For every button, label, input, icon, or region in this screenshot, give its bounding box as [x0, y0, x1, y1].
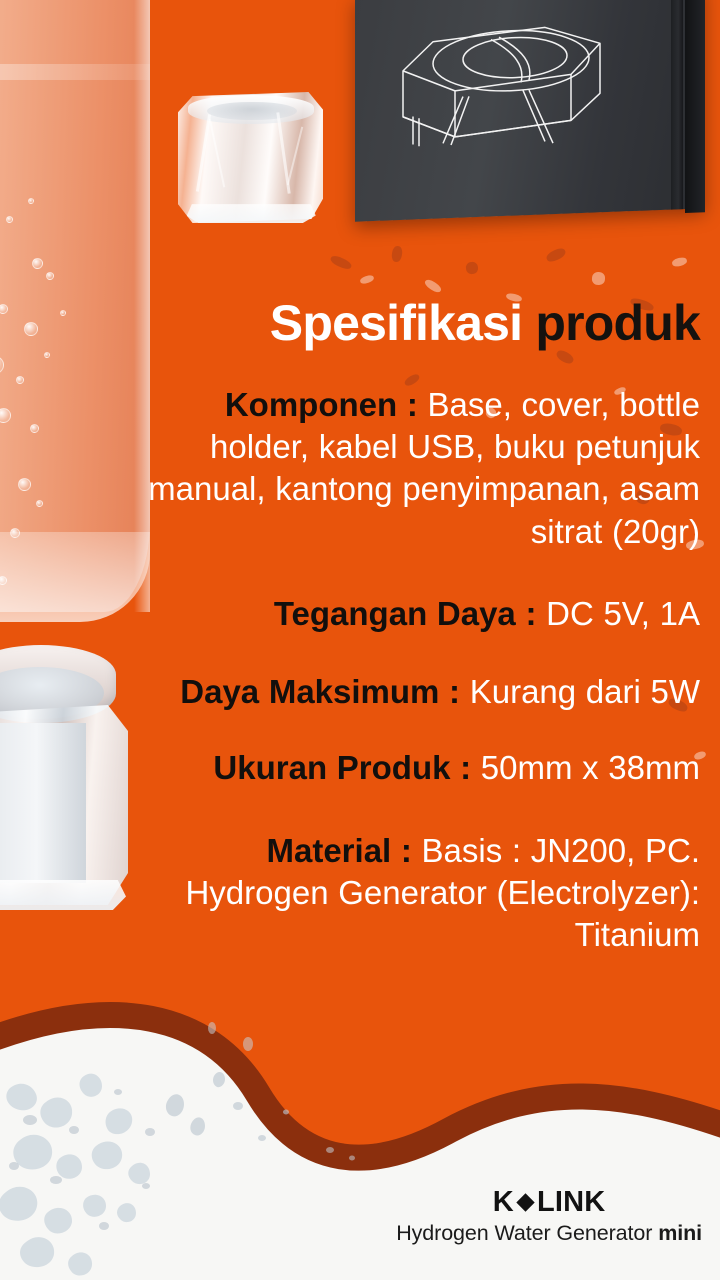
spec-value: Kurang dari 5W [470, 673, 700, 710]
diamond-icon [516, 1193, 534, 1211]
bubble [46, 272, 54, 280]
box-spine-outer [685, 0, 705, 213]
acrylic-bottle-holder-image [178, 88, 323, 223]
cup-body [178, 88, 323, 223]
poster-canvas: Spesifikasi produk Komponen : Base, cove… [0, 0, 720, 1280]
spec-value: Basis : JN200, PC. Hydrogen Generator (E… [185, 832, 700, 953]
cup-glint-2 [209, 119, 226, 188]
cup-foot [187, 204, 316, 223]
spec-separator: : [391, 832, 421, 869]
splash-speck [545, 246, 567, 264]
page-title-white-word: Spesifikasi [270, 295, 522, 351]
brand-word-link: LINK [537, 1188, 605, 1217]
cup-inner-well [207, 102, 297, 121]
spec-separator: : [439, 673, 469, 710]
cup-glint-3 [276, 112, 290, 194]
spec-row-tegangan-daya: Tegangan Daya : DC 5V, 1A [120, 593, 706, 635]
tagline-bold: mini [658, 1221, 702, 1245]
cup-glint-1 [196, 114, 211, 192]
spec-row-ukuran-produk: Ukuran Produk : 50mm x 38mm [120, 747, 706, 789]
tagline-regular: Hydrogen Water Generator [396, 1221, 658, 1245]
box-spine [671, 0, 683, 210]
footer-brand-lockup: K LINK Hydrogen Water Generator mini [396, 1188, 702, 1246]
spec-value: DC 5V, 1A [546, 595, 700, 632]
bubble [6, 216, 13, 223]
spec-key: Tegangan Daya [274, 595, 516, 632]
page-title-black-word: produk [535, 295, 700, 351]
spec-key: Material [267, 832, 392, 869]
page-title: Spesifikasi produk [120, 296, 706, 350]
product-box-line-art-icon [395, 8, 625, 187]
bubble [28, 198, 34, 204]
splash-speck [423, 278, 442, 295]
splash-speck [391, 245, 403, 262]
spec-row-komponen: Komponen : Base, cover, bottle holder, k… [120, 384, 706, 553]
spec-key: Daya Maksimum [180, 673, 439, 710]
splash-speck [465, 261, 479, 275]
bubble [32, 258, 43, 269]
spec-row-material: Material : Basis : JN200, PC. Hydrogen G… [120, 830, 706, 957]
splash-speck [671, 256, 687, 267]
spec-separator: : [450, 749, 480, 786]
spec-separator: : [516, 595, 546, 632]
spec-value: 50mm x 38mm [481, 749, 700, 786]
cup-rim [188, 95, 314, 125]
spec-row-daya-maksimum: Daya Maksimum : Kurang dari 5W [120, 671, 706, 713]
brand-letter-k: K [493, 1188, 514, 1217]
brand-wordmark: K LINK [396, 1188, 702, 1217]
cup-glint-4 [287, 127, 303, 186]
bottle-neck-band [0, 64, 150, 80]
brand-tagline: Hydrogen Water Generator mini [396, 1221, 702, 1246]
splash-speck [359, 274, 374, 285]
spec-separator: : [397, 386, 427, 423]
spec-key: Komponen [225, 386, 397, 423]
splash-speck [591, 271, 605, 285]
product-box-image [355, 0, 705, 222]
specification-panel: Spesifikasi produk Komponen : Base, cove… [0, 296, 720, 956]
spec-key: Ukuran Produk [213, 749, 450, 786]
splash-speck [329, 254, 353, 271]
